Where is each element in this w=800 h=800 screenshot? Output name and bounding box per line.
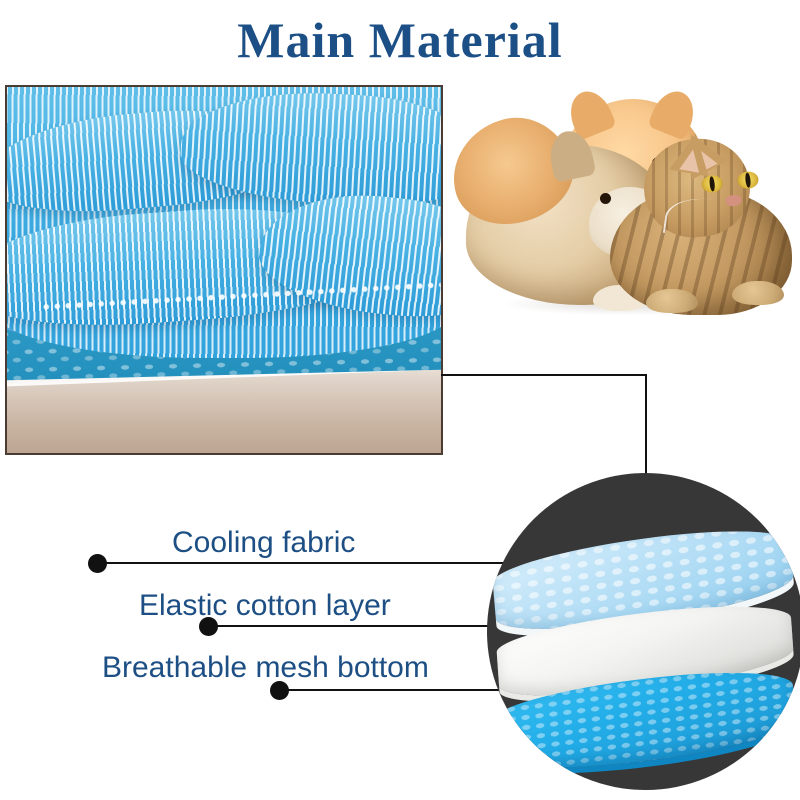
- cat-ear-right: [669, 130, 715, 176]
- page-title: Main Material: [0, 10, 800, 70]
- callout-label-elastic-cotton-layer: Elastic cotton layer: [139, 589, 391, 623]
- callout-dot-1: [88, 554, 107, 573]
- callout-label-breathable-mesh-bottom: Breathable mesh bottom: [102, 651, 429, 685]
- cooling-fabric-macro-photo: [5, 85, 443, 455]
- three-layer-structure-diagram: [487, 473, 800, 790]
- callout-label-cooling-fabric: Cooling fabric: [172, 526, 355, 560]
- cat-eye-right: [737, 171, 760, 190]
- connector-line-horizontal: [441, 374, 647, 376]
- tabby-cat: [604, 123, 794, 318]
- cat-paw-right: [732, 281, 784, 305]
- infographic-page: Main Material: [0, 0, 800, 800]
- connector-line-vertical: [645, 374, 647, 478]
- pets-photo: [448, 85, 800, 335]
- cat-paw-left: [646, 289, 698, 313]
- cat-eye-left: [701, 174, 724, 193]
